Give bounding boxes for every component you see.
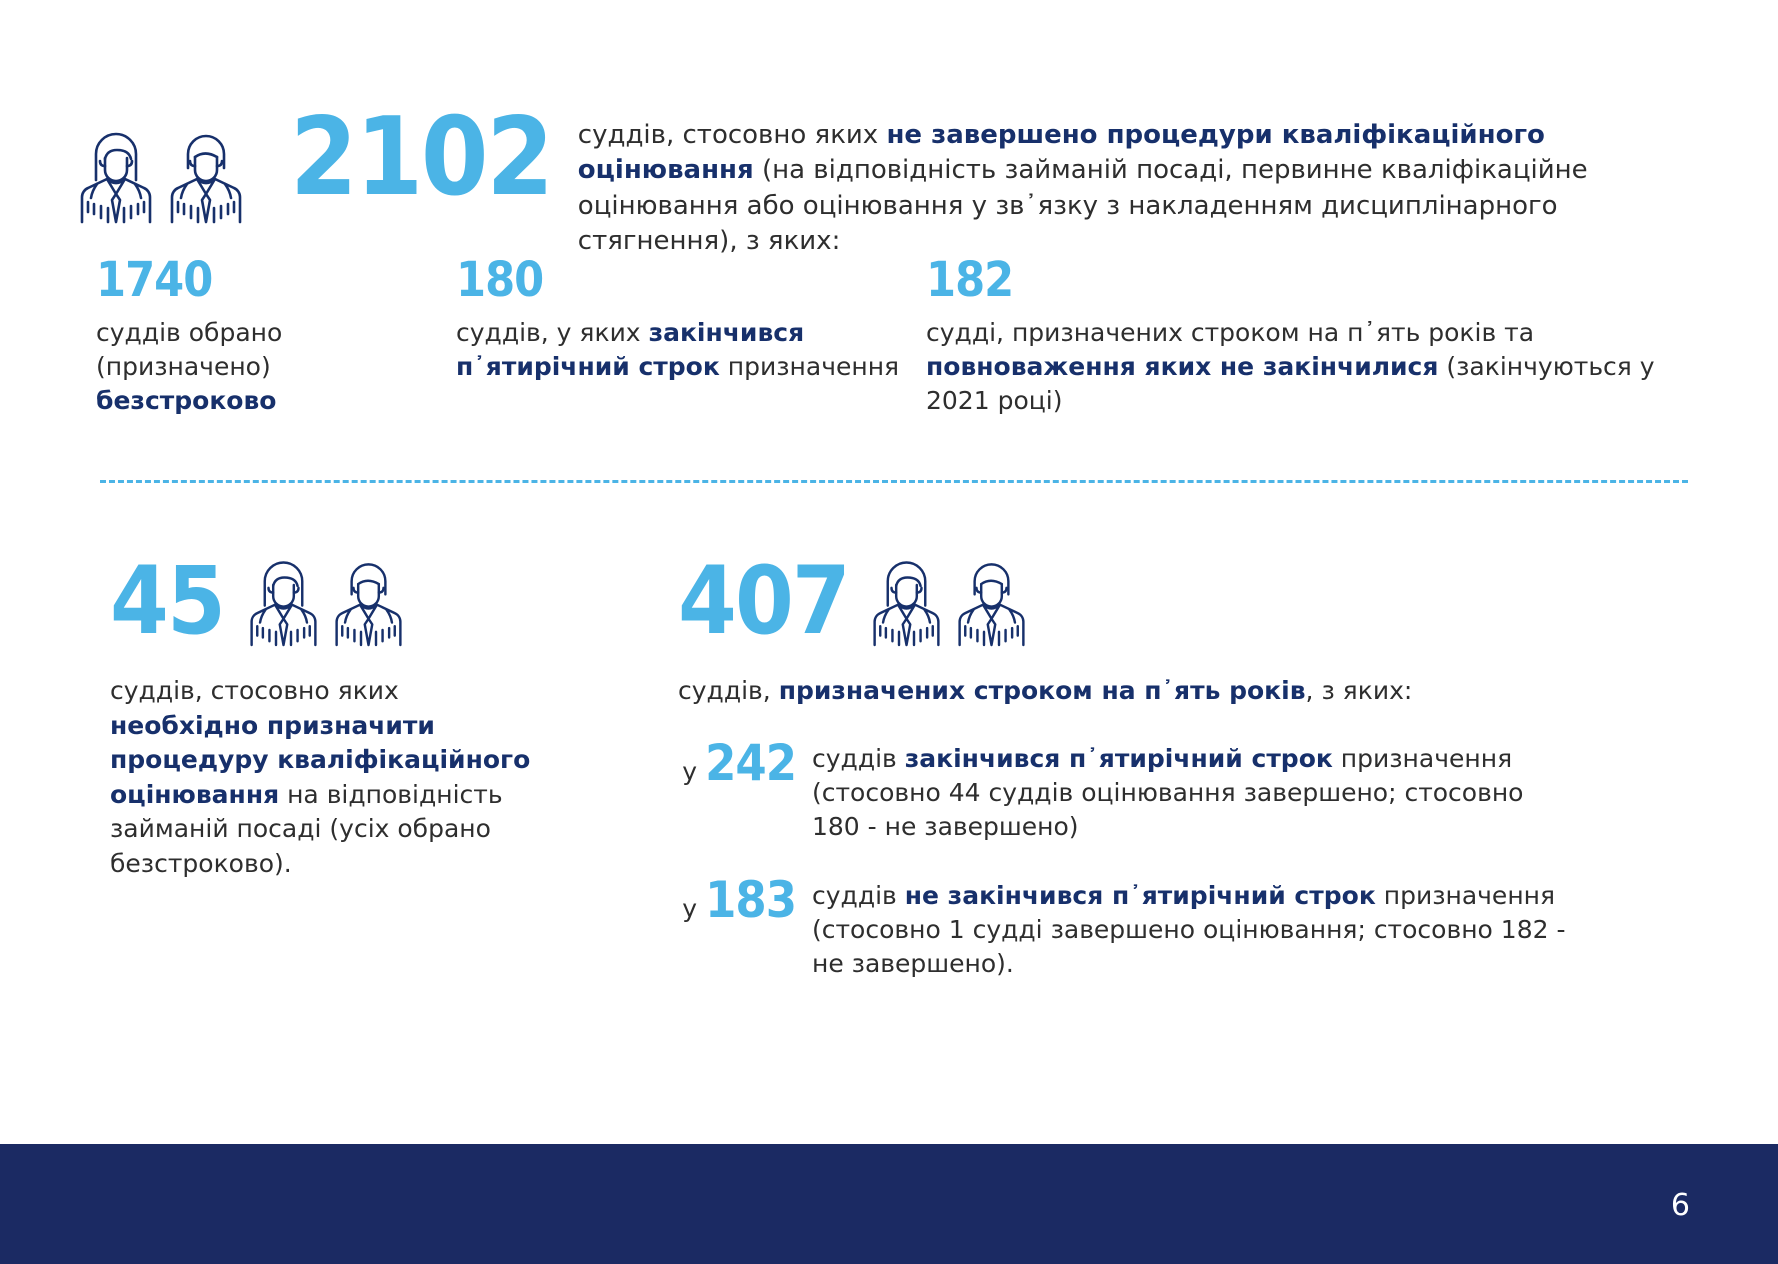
sub-item-number: 242 <box>705 738 796 788</box>
hero-section: 2102 суддів, стосовно яких не завершено … <box>76 108 1706 259</box>
hero-number: 2102 <box>256 104 578 212</box>
block-45-judges-icon-pair <box>246 553 406 652</box>
stat-number: 1740 <box>96 256 456 304</box>
block-407: 407 <box>678 552 1578 981</box>
sub-item-description: суддів закінчився п᾽ятирічний строк приз… <box>812 738 1578 845</box>
block-407-judges-icon-pair <box>869 553 1029 652</box>
sub-item-prefix: у <box>682 757 697 786</box>
sub-item-183-number-group: у 183 <box>678 875 812 925</box>
stat-col-180: 180 суддів, у яких закінчився п᾽ятирічни… <box>456 256 926 418</box>
page-number: 6 <box>1671 1188 1690 1223</box>
block-407-number: 407 <box>678 555 849 649</box>
female-judge-icon <box>246 553 321 647</box>
block-45-description: суддів, стосовно яких необхідно призначи… <box>110 674 540 881</box>
slide-page: 2102 суддів, стосовно яких не завершено … <box>0 0 1778 1264</box>
block-45-header: 45 <box>110 552 540 652</box>
sub-item-242-number-group: у 242 <box>678 738 812 788</box>
judges-icon-pair <box>869 553 1029 647</box>
male-judge-icon <box>331 553 406 647</box>
block-407-lead: суддів, призначених строком на п᾽ять рок… <box>678 674 1578 708</box>
stat-number: 182 <box>926 256 1666 304</box>
female-judge-icon <box>76 124 156 224</box>
block-407-header: 407 <box>678 552 1578 652</box>
sub-item-242: у 242 суддів закінчився п᾽ятирічний стро… <box>678 738 1578 845</box>
block-45: 45 <box>110 552 540 881</box>
stat-description: суддів обрано (призначено) безстроково <box>96 316 456 418</box>
stat-col-1740: 1740 суддів обрано (призначено) безстрок… <box>96 256 456 418</box>
hero-description: суддів, стосовно яких не завершено проце… <box>578 108 1706 259</box>
sub-item-number: 183 <box>705 875 796 925</box>
stats-row: 1740 суддів обрано (призначено) безстрок… <box>96 256 1716 418</box>
female-judge-icon <box>869 553 944 647</box>
judges-icon-pair <box>76 124 246 224</box>
judges-icon-pair <box>246 553 406 647</box>
male-judge-icon <box>166 124 246 224</box>
male-judge-icon <box>954 553 1029 647</box>
hero-judges-icon-pair <box>76 108 256 229</box>
dashed-divider <box>100 480 1688 483</box>
stat-description: судді, призначених строком на п᾽ять рокі… <box>926 316 1666 418</box>
stat-description: суддів, у яких закінчився п᾽ятирічний ст… <box>456 316 926 384</box>
sub-item-183: у 183 суддів не закінчився п᾽ятирічний с… <box>678 875 1578 982</box>
block-45-number: 45 <box>110 555 224 649</box>
stat-col-182: 182 судді, призначених строком на п᾽ять … <box>926 256 1666 418</box>
stat-number: 180 <box>456 256 926 304</box>
sub-item-description: суддів не закінчився п᾽ятирічний строк п… <box>812 875 1578 982</box>
footer-bar: 6 <box>0 1144 1778 1264</box>
sub-item-prefix: у <box>682 894 697 923</box>
